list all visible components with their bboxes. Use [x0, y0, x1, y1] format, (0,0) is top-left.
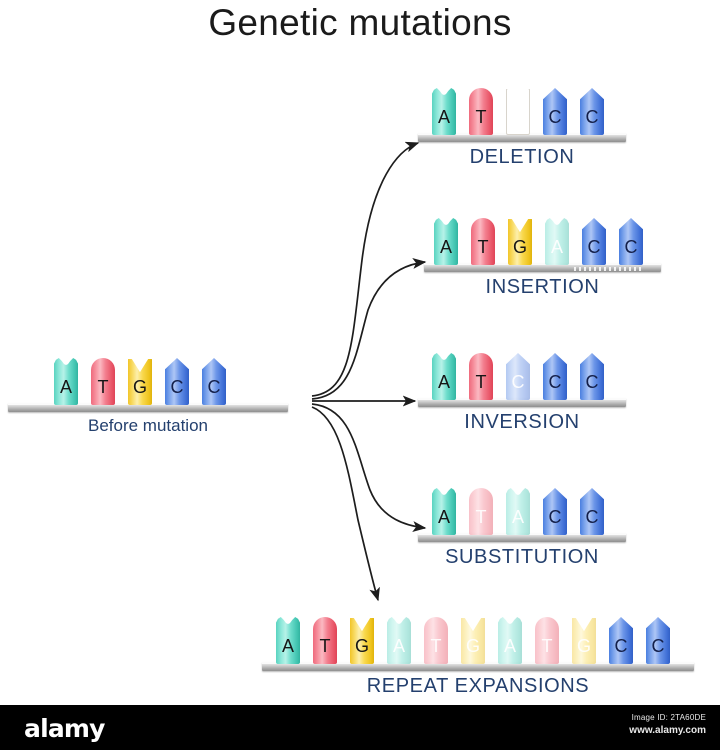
sequence-insertion: ATGACC INSERTION [424, 208, 661, 272]
nucleotide-c: C [543, 353, 567, 400]
nucleotide-a: A [434, 218, 458, 265]
nucleotide-t: T [535, 617, 559, 664]
nucleotide-letter: C [208, 378, 221, 405]
nucleotide-t: T [313, 617, 337, 664]
nucleotide-letter: C [625, 238, 638, 265]
nucleotide-g: G [506, 88, 530, 135]
page-title: Genetic mutations [0, 2, 720, 44]
diagram-canvas: Genetic mutations ATGCC Before mutation … [0, 0, 720, 750]
nucleotide-g: G [350, 617, 374, 664]
nucleotide-g: G [572, 617, 596, 664]
nucleotide-letter: C [586, 508, 599, 535]
deletion-label: DELETION [418, 146, 626, 169]
nucleotide-a: A [432, 353, 456, 400]
image-id-text: Image ID: 2TA60DE [629, 713, 706, 722]
nucleotide-c: C [543, 88, 567, 135]
alamy-logo: alamy [24, 714, 105, 743]
alamy-url-text: www.alamy.com [629, 725, 706, 736]
nucleotide-letter: C [171, 378, 184, 405]
substitution-label: SUBSTITUTION [418, 546, 626, 569]
nucleotide-letter: A [504, 637, 516, 664]
nucleotide-t: T [469, 488, 493, 535]
repeat-expansions-label: REPEAT EXPANSIONS [262, 675, 694, 698]
nucleotide-letter: C [652, 637, 665, 664]
nucleotide-letter: T [476, 373, 487, 400]
nucleotide-t: T [469, 88, 493, 135]
nucleotide-letter: C [549, 508, 562, 535]
nucleotide-letter: C [586, 373, 599, 400]
nucleotide-letter: C [588, 238, 601, 265]
nucleotide-letter: C [549, 373, 562, 400]
sequence-before-mutation: ATGCC Before mutation [8, 348, 288, 412]
footer-meta: Image ID: 2TA60DE www.alamy.com [629, 713, 706, 736]
nucleotide-letter: A [438, 108, 450, 135]
sequence-row: ATGACC [424, 208, 661, 272]
nucleotide-c: C [506, 353, 530, 400]
nucleotide-a: A [498, 617, 522, 664]
nucleotide-g: G [128, 358, 152, 405]
nucleotide-t: T [471, 218, 495, 265]
nucleotide-a: A [387, 617, 411, 664]
nucleotide-letter: T [476, 508, 487, 535]
nucleotide-letter: G [577, 637, 591, 664]
sequence-row: ATGATGATGCC [262, 607, 694, 671]
arrow-to-repeats [312, 407, 378, 600]
nucleotide-letter: C [549, 108, 562, 135]
nucleotide-letter: A [282, 637, 294, 664]
nucleotide-letter: A [440, 238, 452, 265]
nucleotide-letter: G [466, 637, 480, 664]
nucleotide-c: C [165, 358, 189, 405]
nucleotide-letter: C [615, 637, 628, 664]
nucleotide-a: A [276, 617, 300, 664]
insertion-label: INSERTION [424, 276, 661, 299]
alamy-watermark-bar: alamy Image ID: 2TA60DE www.alamy.com [0, 705, 720, 750]
sequence-row: ATACC [418, 478, 626, 542]
arrow-to-insertion [312, 262, 425, 399]
sequence-substitution: ATACC SUBSTITUTION [418, 478, 626, 542]
nucleotide-c: C [609, 617, 633, 664]
nucleotide-letter: A [512, 508, 524, 535]
nucleotide-letter: G [513, 238, 527, 265]
nucleotide-t: T [469, 353, 493, 400]
nucleotide-a: A [432, 488, 456, 535]
nucleotide-a: A [545, 218, 569, 265]
nucleotide-c: C [580, 88, 604, 135]
arrow-to-deletion [312, 143, 418, 396]
nucleotide-c: C [543, 488, 567, 535]
sequence-repeat-expansions: ATGATGATGCC REPEAT EXPANSIONS [262, 607, 694, 671]
nucleotide-letter: T [431, 637, 442, 664]
backbone-insertion-marker [574, 267, 642, 271]
nucleotide-t: T [91, 358, 115, 405]
sequence-row: ATGCC [8, 348, 288, 412]
nucleotide-c: C [580, 488, 604, 535]
sequence-deletion: ATGCC DELETION [418, 78, 626, 142]
nucleotide-letter: G [511, 108, 525, 135]
sequence-row: ATGCC [418, 78, 626, 142]
nucleotide-letter: T [98, 378, 109, 405]
nucleotide-t: T [424, 617, 448, 664]
nucleotide-letter: G [133, 378, 147, 405]
nucleotide-c: C [582, 218, 606, 265]
nucleotide-letter: T [476, 108, 487, 135]
arrow-to-substitution [312, 404, 425, 528]
sequence-row: ATCCC [418, 343, 626, 407]
nucleotide-letter: A [438, 373, 450, 400]
nucleotide-c: C [580, 353, 604, 400]
nucleotide-g: G [461, 617, 485, 664]
nucleotide-letter: T [320, 637, 331, 664]
nucleotide-c: C [646, 617, 670, 664]
nucleotide-letter: T [542, 637, 553, 664]
nucleotide-letter: T [478, 238, 489, 265]
nucleotide-letter: C [586, 108, 599, 135]
nucleotide-letter: A [393, 637, 405, 664]
nucleotide-a: A [54, 358, 78, 405]
sequence-inversion: ATCCC INVERSION [418, 343, 626, 407]
nucleotide-letter: A [60, 378, 72, 405]
nucleotide-c: C [202, 358, 226, 405]
nucleotide-letter: G [355, 637, 369, 664]
nucleotide-g: G [508, 218, 532, 265]
nucleotide-c: C [619, 218, 643, 265]
inversion-label: INVERSION [418, 411, 626, 434]
nucleotide-a: A [506, 488, 530, 535]
before-mutation-label: Before mutation [8, 416, 288, 436]
nucleotide-a: A [432, 88, 456, 135]
nucleotide-letter: A [438, 508, 450, 535]
nucleotide-letter: A [551, 238, 563, 265]
nucleotide-letter: C [512, 373, 525, 400]
